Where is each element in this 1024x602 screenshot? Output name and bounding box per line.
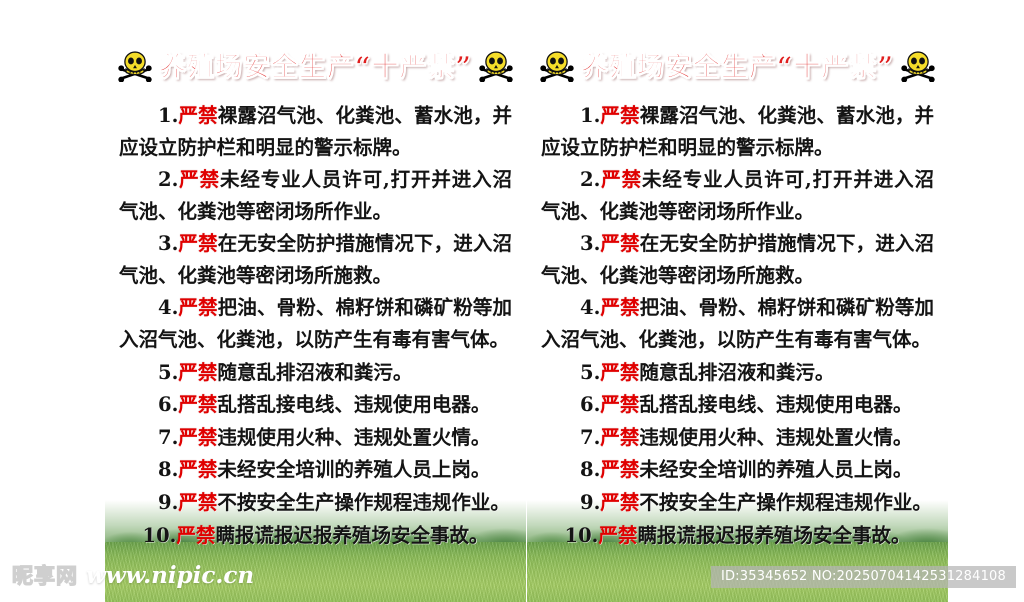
rule-number: 10.: [143, 524, 177, 547]
poster-artwork: 养殖场安全生产“十严禁”: [105, 5, 948, 602]
rule-text: 瞒报谎报迟报养殖场安全事故。: [637, 524, 910, 547]
rule-item: 4.严禁把油、骨粉、棉籽饼和磷矿粉等加入沼气池、化粪池，以防产生有毒有害气体。: [119, 292, 512, 355]
poster-content-right: 养殖场安全生产“十严禁”: [527, 5, 948, 551]
page-title: 养殖场安全生产“十严禁”: [581, 45, 894, 84]
rule-text: 不按安全生产操作规程违规作业。: [639, 491, 932, 514]
rule-item: 1.严禁裸露沼气池、化粪池、蓄水池，并应设立防护栏和明显的警示标牌。: [541, 100, 934, 163]
rule-text: 不按安全生产操作规程违规作业。: [217, 491, 510, 514]
rule-ban-keyword: 严禁: [178, 426, 217, 449]
rule-number: 4.: [158, 296, 178, 319]
rule-number: 1.: [580, 104, 600, 127]
rule-ban-keyword: 严禁: [178, 491, 217, 514]
rule-ban-keyword: 严禁: [600, 458, 639, 481]
rule-text: 随意乱排沼液和粪污。: [217, 361, 412, 384]
rule-item: 9.严禁不按安全生产操作规程违规作业。: [541, 487, 934, 519]
rule-number: 1.: [158, 104, 178, 127]
rule-item: 5.严禁随意乱排沼液和粪污。: [541, 357, 934, 389]
poster-panel-left: 养殖场安全生产“十严禁”: [105, 5, 527, 602]
rule-item: 10.严禁瞒报谎报迟报养殖场安全事故。: [119, 520, 512, 552]
rule-text: 违规使用火种、违规处置火情。: [639, 426, 912, 449]
poster-content-left: 养殖场安全生产“十严禁”: [105, 5, 526, 551]
rule-item: 6.严禁乱搭乱接电线、违规使用电器。: [541, 389, 934, 421]
rule-item: 9.严禁不按安全生产操作规程违规作业。: [119, 487, 512, 519]
rule-item: 1.严禁裸露沼气池、化粪池、蓄水池，并应设立防护栏和明显的警示标牌。: [119, 100, 512, 163]
skull-crossbones-icon: [898, 48, 938, 82]
rule-number: 10.: [565, 524, 599, 547]
rule-number: 4.: [580, 296, 600, 319]
rule-item: 8.严禁未经安全培训的养殖人员上岗。: [541, 454, 934, 486]
rule-ban-keyword: 严禁: [178, 361, 217, 384]
rule-text: 瞒报谎报迟报养殖场安全事故。: [215, 524, 488, 547]
rule-text: 违规使用火种、违规处置火情。: [217, 426, 490, 449]
rule-ban-keyword: 严禁: [600, 168, 642, 191]
rule-text: 乱搭乱接电线、违规使用电器。: [639, 393, 912, 416]
poster-panel-right: 养殖场安全生产“十严禁”: [527, 5, 948, 602]
rule-item: 2.严禁未经专业人员许可,打开并进入沼气池、化粪池等密闭场所作业。: [119, 164, 512, 227]
screenshot-canvas: 养殖场安全生产“十严禁”: [0, 0, 1024, 602]
skull-crossbones-icon: [476, 48, 516, 82]
rule-ban-keyword: 严禁: [178, 393, 217, 416]
rule-number: 3.: [158, 232, 178, 255]
rule-item: 10.严禁瞒报谎报迟报养殖场安全事故。: [541, 520, 934, 552]
rule-number: 3.: [580, 232, 600, 255]
rule-ban-keyword: 严禁: [600, 296, 639, 319]
rule-item: 2.严禁未经专业人员许可,打开并进入沼气池、化粪池等密闭场所作业。: [541, 164, 934, 227]
rules-list: 1.严禁裸露沼气池、化粪池、蓄水池，并应设立防护栏和明显的警示标牌。 2.严禁未…: [541, 100, 934, 551]
rule-number: 5.: [580, 361, 600, 384]
skull-crossbones-icon: [537, 48, 577, 82]
rule-number: 2.: [580, 168, 600, 191]
poster-title-row: 养殖场安全生产“十严禁”: [541, 45, 934, 84]
nipic-logo: 昵享网: [12, 560, 78, 590]
rule-ban-keyword: 严禁: [178, 296, 217, 319]
rule-item: 3.严禁在无安全防护措施情况下，进入沼气池、化粪池等密闭场所施救。: [119, 228, 512, 291]
rule-ban-keyword: 严禁: [600, 491, 639, 514]
rule-number: 8.: [580, 458, 600, 481]
skull-crossbones-icon: [115, 48, 155, 82]
page-title: 养殖场安全生产“十严禁”: [159, 45, 472, 84]
rule-text: 未经安全培训的养殖人员上岗。: [639, 458, 912, 481]
rule-number: 6.: [580, 393, 600, 416]
poster-title-row: 养殖场安全生产“十严禁”: [119, 45, 512, 84]
rule-text: 随意乱排沼液和粪污。: [639, 361, 834, 384]
rule-ban-keyword: 严禁: [600, 361, 639, 384]
rule-item: 3.严禁在无安全防护措施情况下，进入沼气池、化粪池等密闭场所施救。: [541, 228, 934, 291]
rule-ban-keyword: 严禁: [178, 232, 217, 255]
rule-ban-keyword: 严禁: [176, 524, 215, 547]
rule-item: 5.严禁随意乱排沼液和粪污。: [119, 357, 512, 389]
rule-number: 7.: [158, 426, 178, 449]
rule-item: 4.严禁把油、骨粉、棉籽饼和磷矿粉等加入沼气池、化粪池，以防产生有毒有害气体。: [541, 292, 934, 355]
rule-number: 5.: [158, 361, 178, 384]
rule-ban-keyword: 严禁: [600, 232, 639, 255]
rule-ban-keyword: 严禁: [600, 393, 639, 416]
rule-item: 7.严禁违规使用火种、违规处置火情。: [541, 422, 934, 454]
rule-number: 9.: [158, 491, 178, 514]
rule-text: 未经安全培训的养殖人员上岗。: [217, 458, 490, 481]
rule-ban-keyword: 严禁: [600, 426, 639, 449]
rule-number: 7.: [580, 426, 600, 449]
rule-ban-keyword: 严禁: [178, 104, 217, 127]
rule-item: 8.严禁未经安全培训的养殖人员上岗。: [119, 454, 512, 486]
rule-item: 6.严禁乱搭乱接电线、违规使用电器。: [119, 389, 512, 421]
rule-ban-keyword: 严禁: [178, 458, 217, 481]
rule-ban-keyword: 严禁: [598, 524, 637, 547]
rules-list: 1.严禁裸露沼气池、化粪池、蓄水池，并应设立防护栏和明显的警示标牌。 2.严禁未…: [119, 100, 512, 551]
rule-number: 8.: [158, 458, 178, 481]
rule-number: 9.: [580, 491, 600, 514]
rule-ban-keyword: 严禁: [178, 168, 220, 191]
rule-number: 6.: [158, 393, 178, 416]
rule-ban-keyword: 严禁: [600, 104, 639, 127]
rule-text: 乱搭乱接电线、违规使用电器。: [217, 393, 490, 416]
rule-item: 7.严禁违规使用火种、违规处置火情。: [119, 422, 512, 454]
rule-number: 2.: [158, 168, 178, 191]
